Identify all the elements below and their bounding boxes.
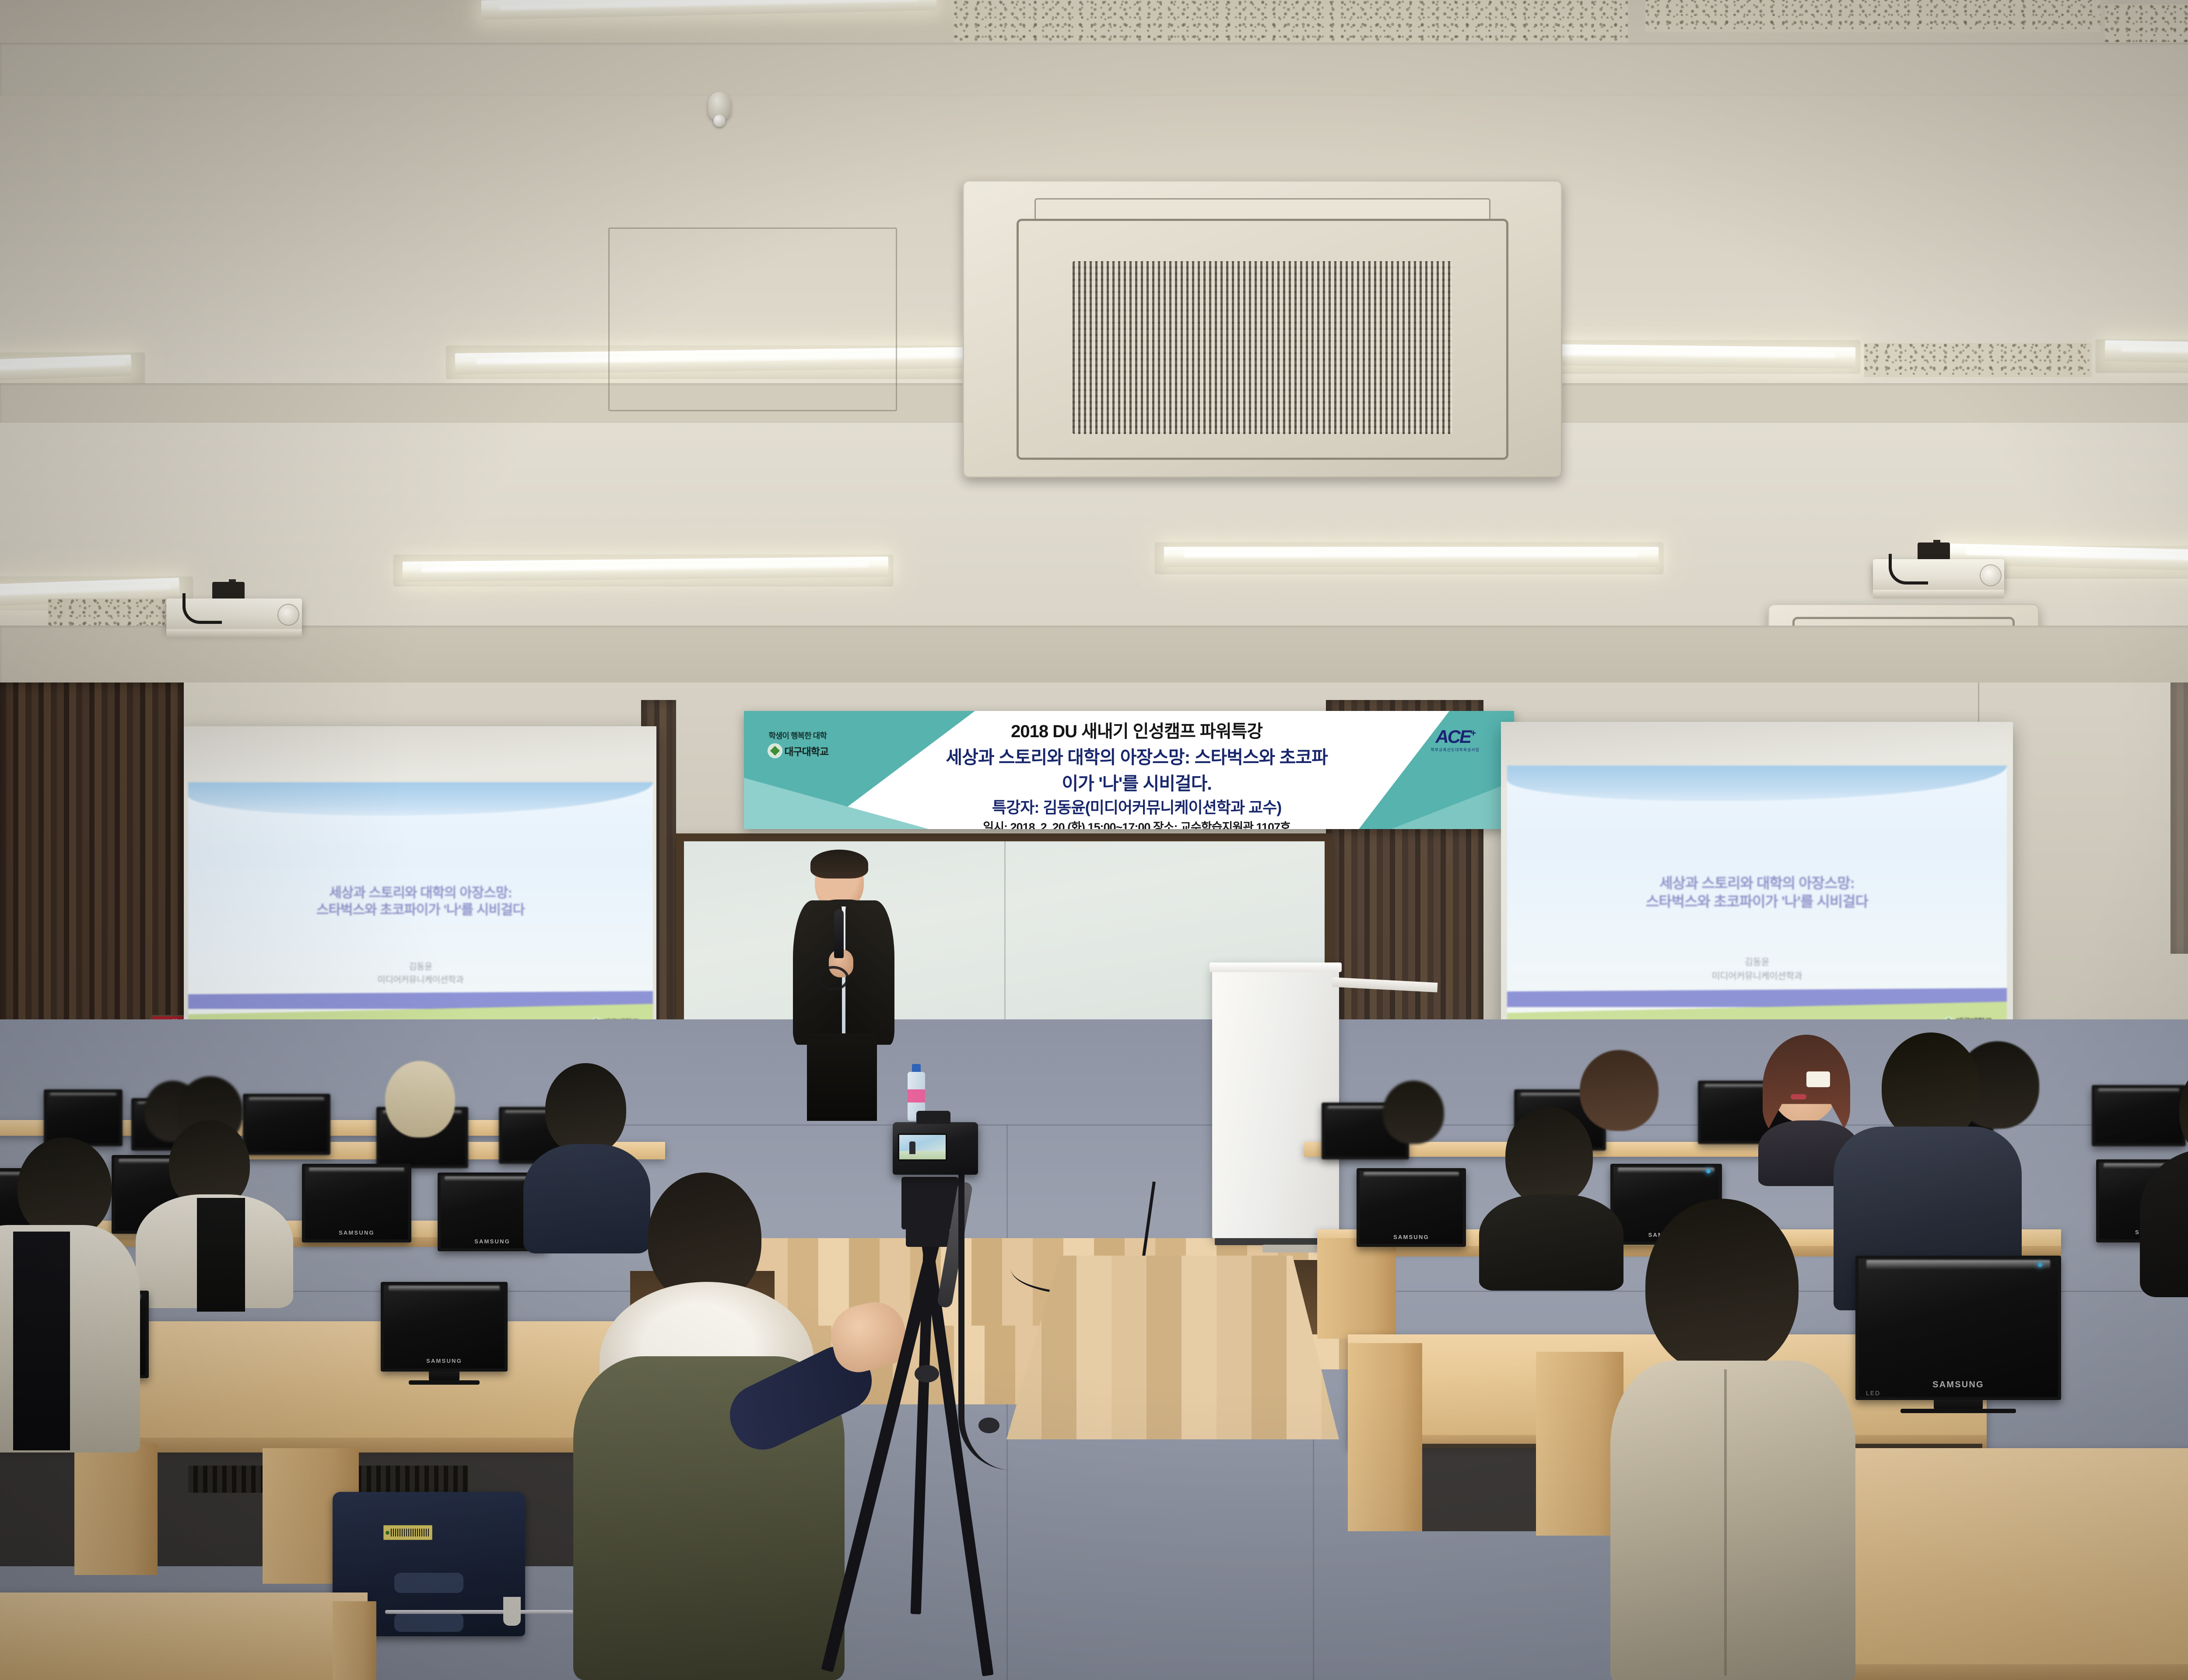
audience-top	[2140, 1148, 2188, 1297]
aisle-wood-floor	[1006, 1256, 1339, 1439]
speaker-hair	[810, 850, 868, 878]
monitor-base	[1900, 1409, 2016, 1413]
monitor-gloss	[249, 1097, 324, 1101]
camera-viewfinder-hump	[916, 1111, 950, 1124]
speaker-lapel-right	[845, 900, 894, 1045]
jacket-seam	[1724, 1369, 1727, 1676]
projector-cable	[1889, 554, 1928, 584]
lecture-hall-photo: 소화기 학생이 행복한 대학 대구대학교 ACE+ 학부교육선도	[0, 0, 2188, 1680]
slide-author-block: 김동윤 미디어커뮤니케이션학과	[216, 960, 625, 987]
monitor-gloss	[1618, 1168, 1715, 1173]
asset-tag-barcode	[391, 1529, 430, 1536]
monitor-gloss	[309, 1168, 404, 1173]
wood-column-right	[2170, 682, 2188, 954]
monitor-brand: SAMSUNG	[305, 1227, 408, 1239]
dslr-camera[interactable]	[893, 1122, 978, 1175]
camera-lcd-subject	[909, 1141, 915, 1154]
camera-lcd-screen	[898, 1134, 947, 1161]
monitor-stand	[429, 1372, 459, 1381]
slide-author: 김동윤	[1537, 955, 1977, 969]
ace-sub-label: 학부교육선도대학육성사업	[1431, 747, 1479, 752]
slide-title: 세상과 스토리와 대학의 아장스망: 스타벅스와 초코파이가 '나'를 시비걸다	[216, 884, 625, 919]
projector-cable	[182, 593, 222, 624]
slide-left: 세상과 스토리와 대학의 아장스망: 스타벅스와 초코파이가 '나'를 시비걸다…	[188, 782, 653, 1037]
university-tagline: 학생이 행복한 대학	[768, 730, 826, 741]
chair-slot	[394, 1573, 463, 1593]
monitor-power-led	[1706, 1169, 1711, 1173]
ac-inner-frame	[1017, 219, 1508, 460]
audience-head	[1882, 1032, 1980, 1142]
monitor-stand	[1934, 1400, 1983, 1410]
monitor-foreground: SAMSUNG LED	[1855, 1256, 2061, 1400]
banner-text-block: 2018 DU 새내기 인성캠프 파워특강 세상과 스토리와 대학의 아장스망:…	[944, 717, 1329, 825]
university-name: 대구대학교	[784, 743, 828, 758]
audience-head	[545, 1063, 626, 1155]
audience-head-blonde	[385, 1061, 455, 1137]
monitor-panel: SAMSUNG	[381, 1282, 508, 1372]
ceiling-light	[481, 0, 937, 20]
audience-inner-top	[13, 1232, 70, 1450]
projector-icon	[1873, 542, 2004, 604]
ceiling-tile	[1645, 0, 2100, 32]
audience-head	[2179, 1059, 2188, 1162]
monitor-sublabel: LED	[1866, 1389, 1880, 1396]
monitor-base	[409, 1380, 480, 1385]
monitor-panel: SAMSUNG	[1357, 1168, 1466, 1247]
slide-top-band	[1507, 766, 2007, 801]
bottle-cap	[912, 1064, 921, 1072]
monitor-panel: SAMSUNG	[302, 1164, 411, 1242]
monitor: SAMSUNG	[302, 1164, 411, 1242]
audience-member-foreground	[1593, 1199, 1864, 1680]
ceiling-tile	[2105, 4, 2188, 42]
monitor: SAMSUNG	[381, 1282, 508, 1372]
banner-line-1: 2018 DU 새내기 인성캠프 파워특강	[1011, 717, 1262, 742]
slide-department: 미디어커뮤니케이션학과	[1537, 969, 1977, 983]
projector-plate	[1873, 590, 2004, 598]
asset-tag-icon	[386, 1531, 389, 1535]
audience-jacket	[1610, 1361, 1855, 1680]
slide-department: 미디어커뮤니케이션학과	[216, 973, 625, 987]
slide-title-line-2: 스타벅스와 초코파이가 '나'를 시비걸다	[1537, 892, 1977, 911]
audience-member	[131, 1120, 298, 1277]
event-banner: 학생이 행복한 대학 대구대학교 ACE+ 학부교육선도대학육성사업 2018 …	[744, 711, 1514, 829]
desk-panel	[1348, 1343, 1422, 1531]
projector-icon	[166, 582, 302, 643]
ceiling-tile	[1864, 343, 2092, 377]
slide-author-block: 김동윤 미디어커뮤니케이션학과	[1537, 955, 1977, 983]
monitor-brand: SAMSUNG	[1360, 1231, 1463, 1243]
banner-line-4: 일시: 2018. 2. 20.(화) 15:00~17:00 장소: 교수학습…	[983, 818, 1290, 829]
ace-logo-icon: ACE+	[1431, 728, 1479, 746]
audience-member	[2131, 1059, 2188, 1295]
audience-head	[1645, 1199, 1799, 1374]
slide-right: 세상과 스토리와 대학의 아장스망: 스타벅스와 초코파이가 '나'를 시비걸다…	[1507, 766, 2007, 1037]
camera-lcd-slide-band	[899, 1151, 946, 1159]
audience-member-foreground	[0, 1137, 144, 1479]
desk-panel	[333, 1601, 376, 1680]
lips	[1791, 1094, 1806, 1099]
monitor-brand: SAMSUNG	[1858, 1374, 2058, 1396]
slide-title-line-1: 세상과 스토리와 대학의 아장스망:	[216, 884, 625, 902]
tripod-pan-base[interactable]	[906, 1212, 950, 1247]
desk-panel	[1317, 1238, 1396, 1339]
ac-grille	[1073, 261, 1452, 434]
speaker-trousers	[807, 1033, 877, 1121]
lectern	[1212, 962, 1339, 1238]
monitor-power-led	[2038, 1263, 2042, 1267]
slide-title: 세상과 스토리와 대학의 아장스망: 스타벅스와 초코파이가 '나'를 시비걸다	[1537, 874, 1977, 911]
university-logo-row: 대구대학교	[768, 743, 828, 758]
lectern-top-edge	[1210, 962, 1342, 972]
speaker-glasses	[817, 966, 849, 990]
audience-head	[18, 1137, 112, 1238]
audience-head	[1505, 1107, 1593, 1205]
air-conditioner-icon	[963, 180, 1562, 478]
projector-plate	[166, 629, 302, 638]
monitor-panel: SAMSUNG	[1855, 1256, 2061, 1400]
ceiling-band	[0, 43, 2188, 95]
monitor-gloss	[389, 1286, 500, 1291]
bottle-label	[908, 1089, 925, 1102]
banner-line-2: 세상과 스토리와 대학의 아장스망: 스타벅스와 초코파이가 '나'를 시비걸다…	[944, 742, 1329, 795]
asset-tag-label	[383, 1525, 432, 1540]
monitor-gloss	[1866, 1260, 2050, 1270]
monitor-brand: SAMSUNG	[384, 1354, 505, 1368]
ceiling-access-hatch	[608, 227, 897, 411]
eye-patch	[1806, 1071, 1830, 1087]
camera-operator	[516, 1172, 849, 1680]
speaker-presenter	[783, 853, 901, 1120]
ceiling-tile	[954, 0, 1628, 42]
slide-title-line-2: 스타벅스와 초코파이가 '나'를 시비걸다	[216, 901, 625, 919]
sponsor-branding: ACE+ 학부교육선도대학육성사업	[1431, 728, 1479, 752]
ceiling	[0, 0, 2188, 717]
tripod-lock-knob[interactable]	[915, 1365, 939, 1382]
wood-column-left	[0, 682, 184, 1067]
monitor-gloss	[50, 1093, 117, 1096]
banner-line-3: 특강자: 김동윤(미디어커뮤니케이션학과 교수)	[992, 795, 1281, 818]
slide-author: 김동윤	[216, 960, 625, 973]
sprinkler-head-icon	[708, 92, 731, 121]
monitor-gloss	[1364, 1172, 1459, 1177]
audience-inner-top	[197, 1198, 245, 1312]
chair-slot	[394, 1613, 463, 1632]
audience-head	[1383, 1081, 1444, 1144]
university-logo-icon	[768, 744, 782, 757]
slide-top-band	[188, 782, 653, 815]
ceiling-light	[1164, 547, 1659, 567]
university-branding: 학생이 행복한 대학 대구대학교	[768, 730, 828, 758]
microphone-icon[interactable]	[834, 909, 844, 958]
desk-foreground-lowest	[0, 1592, 368, 1680]
slide-title-line-1: 세상과 스토리와 대학의 아장스망:	[1537, 874, 1977, 892]
monitor: SAMSUNG	[1357, 1168, 1466, 1247]
